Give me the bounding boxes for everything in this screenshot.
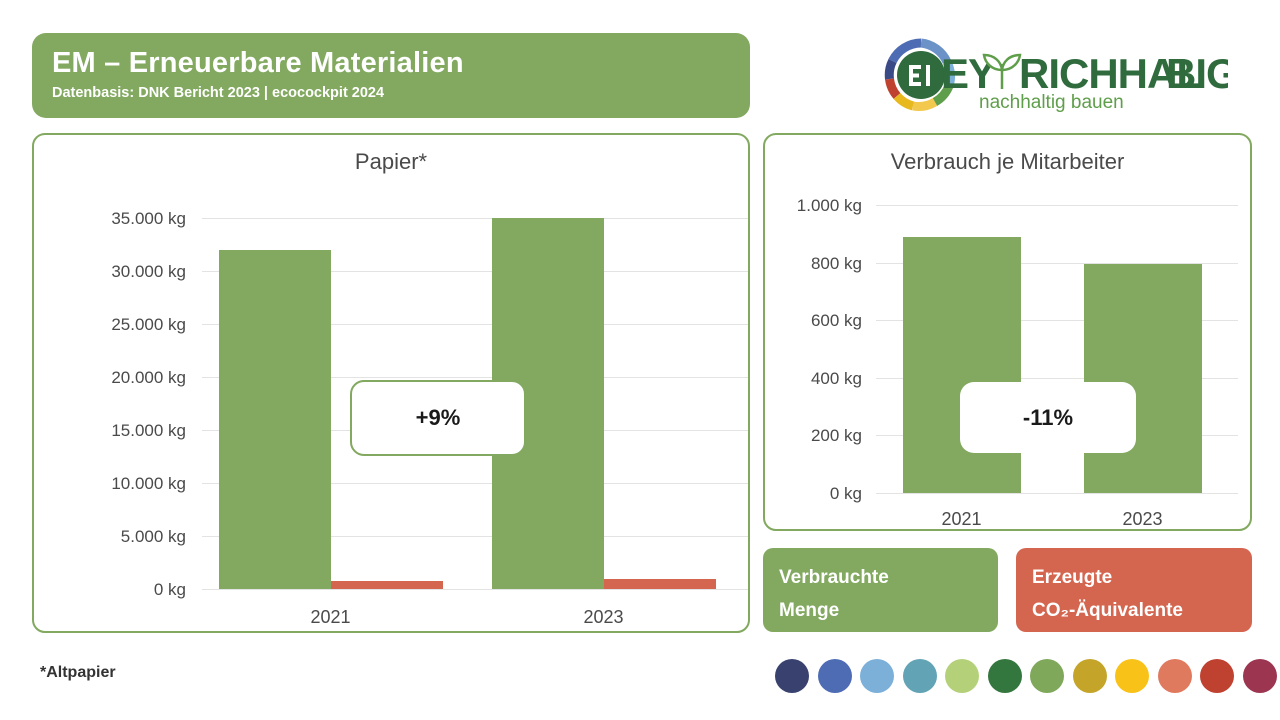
color-swatch-8 (1073, 659, 1107, 693)
color-swatch-11 (1200, 659, 1234, 693)
y-axis-tick-label: 30.000 kg (26, 263, 186, 280)
logo-disc (897, 51, 945, 99)
x-axis-tick-label: 2023 (467, 607, 740, 627)
color-swatch-10 (1158, 659, 1192, 693)
y-axis-tick-label: 0 kg (702, 485, 862, 502)
gridline (876, 493, 1238, 494)
svg-text:BIG: BIG (1166, 50, 1228, 97)
bar-verbrauch-2021-menge (903, 237, 1021, 493)
y-axis-tick-label: 600 kg (702, 312, 862, 329)
delta-badge-verbrauch: -11% (960, 382, 1136, 453)
color-swatch-5 (945, 659, 979, 693)
color-swatch-1 (775, 659, 809, 693)
gridline (202, 589, 748, 590)
page-subtitle: Datenbasis: DNK Bericht 2023 | ecocockpi… (52, 82, 750, 104)
chart-title-verbrauch: Verbrauch je Mitarbeiter (765, 135, 1250, 177)
y-axis-tick-label: 10.000 kg (26, 475, 186, 492)
bar-papier-2023-co2 (604, 579, 716, 589)
logo-svg: EY RICHHAL BIG nachhaltig bauen (883, 36, 1228, 114)
color-swatch-4 (903, 659, 937, 693)
y-axis-tick-label: 0 kg (26, 581, 186, 598)
gridline (202, 218, 748, 219)
x-axis-tick-label: 2023 (1052, 509, 1233, 529)
bar-papier-2021-menge (219, 250, 331, 589)
logo-tagline: nachhaltig bauen (979, 92, 1124, 113)
gridline (876, 205, 1238, 206)
chart-card-verbrauch: Verbrauch je Mitarbeiter 0 kg200 kg400 k… (763, 133, 1252, 531)
page-title: EM – Erneuerbare Materialien (52, 44, 750, 82)
color-swatch-12 (1243, 659, 1277, 693)
bar-papier-2021-co2 (331, 581, 443, 589)
y-axis-tick-label: 5.000 kg (26, 528, 186, 545)
y-axis-tick-label: 200 kg (702, 427, 862, 444)
color-swatch-6 (988, 659, 1022, 693)
color-palette-swatches (775, 659, 1277, 693)
legend-label-line-1: Verbrauchte (779, 561, 998, 594)
legend-label-line-2: CO₂-Äquivalente (1032, 594, 1252, 627)
company-logo: EY RICHHAL BIG nachhaltig bauen (883, 36, 1228, 114)
color-swatch-2 (818, 659, 852, 693)
y-axis-tick-label: 20.000 kg (26, 369, 186, 386)
footnote-altpapier: *Altpapier (40, 664, 116, 682)
x-axis-tick-label: 2021 (871, 509, 1052, 529)
x-axis-tick-label: 2021 (194, 607, 467, 627)
y-axis-tick-label: 400 kg (702, 370, 862, 387)
legend-label-line-1: Erzeugte (1032, 561, 1252, 594)
delta-badge-papier: +9% (350, 380, 526, 456)
y-axis-tick-label: 15.000 kg (26, 422, 186, 439)
legend-chip-verbrauchte-menge: Verbrauchte Menge (763, 548, 998, 632)
bar-verbrauch-2023-menge (1084, 264, 1202, 493)
legend-chip-co2-aequivalente: Erzeugte CO₂-Äquivalente (1016, 548, 1252, 632)
color-swatch-7 (1030, 659, 1064, 693)
color-swatch-3 (860, 659, 894, 693)
y-axis-tick-label: 25.000 kg (26, 316, 186, 333)
y-axis-tick-label: 800 kg (702, 255, 862, 272)
y-axis-tick-label: 35.000 kg (26, 210, 186, 227)
chart-title-papier: Papier* (34, 135, 748, 177)
y-axis-tick-label: 1.000 kg (702, 197, 862, 214)
header-banner: EM – Erneuerbare Materialien Datenbasis:… (32, 33, 750, 118)
legend-label-line-2: Menge (779, 594, 998, 627)
color-swatch-9 (1115, 659, 1149, 693)
slide-canvas: EM – Erneuerbare Materialien Datenbasis:… (0, 0, 1280, 720)
